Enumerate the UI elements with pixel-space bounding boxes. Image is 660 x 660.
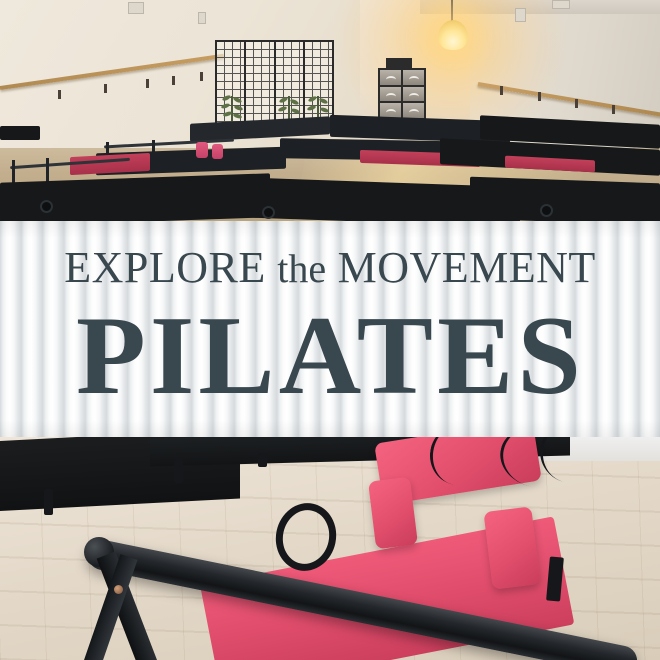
reformer-closeup-photo: [0, 437, 660, 660]
ceiling-light-fixture-2: [552, 0, 570, 9]
storage-bin: [380, 87, 401, 102]
reformer-wheel: [262, 206, 275, 219]
headline-line-1: EXPLORE the MOVEMENT: [64, 246, 596, 290]
cubby-top-box: [386, 58, 412, 68]
room-divider-screen: [215, 40, 334, 128]
ceiling-light-fixture-1: [128, 2, 144, 14]
headline-banner: EXPLORE the MOVEMENT PILATES: [0, 221, 660, 437]
storage-bin: [380, 70, 401, 85]
reformer-leg: [174, 459, 183, 483]
barre-bracket: [200, 72, 203, 81]
divider-panel: [246, 42, 275, 126]
reformer-wheel: [40, 200, 53, 213]
reformer-shoulder-block-left: [368, 477, 418, 550]
barre-bracket: [58, 90, 61, 99]
storage-bin: [403, 103, 424, 118]
reformer-leg: [258, 453, 267, 467]
reformer-post: [12, 160, 15, 184]
storage-bin: [403, 87, 424, 102]
reformer-leg: [44, 489, 53, 515]
storage-cubby-shelf: [378, 68, 426, 120]
barre-bracket: [538, 92, 541, 101]
wall-fixture-2: [515, 8, 526, 22]
barre-bracket: [104, 84, 107, 93]
wall-fixture-1: [198, 12, 206, 24]
poster-canvas: EXPLORE the MOVEMENT PILATES: [0, 0, 660, 660]
barre-bracket: [172, 76, 175, 85]
pendant-cord: [451, 0, 453, 22]
headline-word-the: the: [277, 246, 326, 291]
headline-word-explore: EXPLORE: [64, 243, 266, 292]
reformer-machine: [0, 126, 40, 140]
divider-panel: [276, 42, 305, 126]
reformer-machine: [470, 177, 660, 222]
pendant-lamp-icon: [438, 20, 468, 50]
reformer-shoulder-block: [196, 142, 208, 158]
headline-word-movement: MOVEMENT: [338, 243, 596, 292]
foot-bar-bolt: [114, 585, 123, 594]
reformer-wheel: [540, 204, 553, 217]
divider-panel: [217, 42, 246, 126]
storage-bin: [403, 70, 424, 85]
barre-bracket: [612, 105, 615, 114]
studio-wide-photo: [0, 0, 660, 222]
reformer-post: [46, 158, 49, 182]
barre-bracket: [575, 99, 578, 108]
divider-panel: [305, 42, 332, 126]
headline-line-2-pilates: PILATES: [76, 300, 585, 412]
reformer-shoulder-block-right: [483, 506, 540, 589]
barre-bracket: [146, 79, 149, 88]
reformer-shoulder-block: [212, 144, 223, 159]
barre-bracket: [500, 86, 503, 95]
